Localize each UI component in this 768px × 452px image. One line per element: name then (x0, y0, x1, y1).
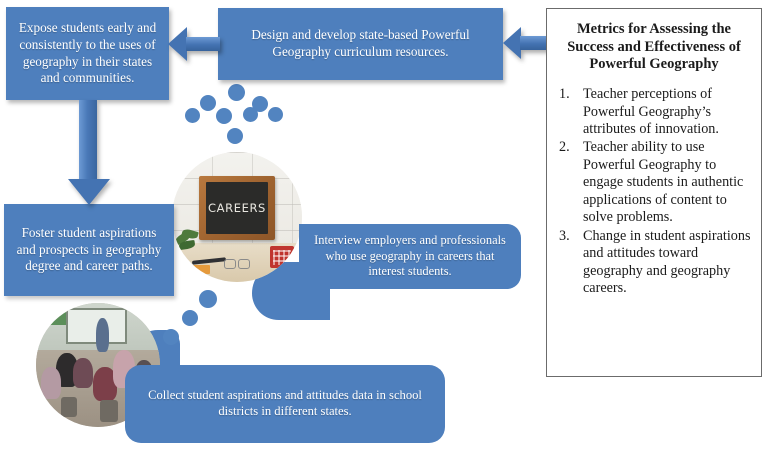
arrow-left-icon-curriculum-to-expose (168, 27, 220, 61)
arrow-left-icon-metrics-to-curriculum (503, 27, 551, 59)
decor-dot (200, 95, 216, 111)
classroom-student (41, 367, 61, 399)
metrics-item-text: Teacher ability to use Powerful Geograph… (583, 139, 743, 225)
decor-dot (199, 290, 217, 308)
metrics-item-number: 1. (559, 86, 579, 103)
arrow-down-icon-expose-to-foster (68, 100, 110, 206)
calculator-icon (270, 246, 294, 268)
decor-dot (243, 107, 258, 122)
photo-careers-chalkboard: CAREERS (172, 152, 302, 282)
glasses-icon (224, 259, 250, 268)
decor-dot (185, 108, 200, 123)
metrics-item-text: Change in student aspirations and attitu… (583, 228, 750, 296)
decor-dot (268, 107, 283, 122)
metrics-item-number: 2. (559, 139, 579, 156)
metrics-item-number: 3. (559, 228, 579, 245)
chalkboard-text: CAREERS (206, 201, 268, 215)
decor-dot (228, 84, 245, 101)
notebook-icon (180, 265, 210, 274)
process-box-interview-employers[interactable]: Interview employers and professionals wh… (299, 224, 521, 289)
metrics-list-item: 3. Change in student aspirations and att… (557, 228, 751, 298)
decor-dot (216, 108, 232, 124)
chalkboard-surface: CAREERS (206, 182, 268, 234)
classroom-student (73, 358, 93, 388)
metrics-item-text: Teacher perceptions of Powerful Geograph… (583, 86, 719, 137)
plant-icon (175, 230, 201, 256)
metrics-list: 1. Teacher perceptions of Powerful Geogr… (557, 86, 751, 298)
metrics-list-item: 1. Teacher perceptions of Powerful Geogr… (557, 86, 751, 138)
diagram-canvas: CAREERS (0, 0, 768, 452)
decor-dot (163, 329, 179, 345)
metrics-panel-title: Metrics for Assessing the Success and Ef… (561, 21, 747, 74)
process-box-design-curriculum[interactable]: Design and develop state-based Powerful … (218, 8, 503, 80)
classroom-chair (100, 400, 118, 422)
chalkboard-frame: CAREERS (199, 176, 275, 240)
classroom-green-panel (36, 303, 68, 325)
classroom-teacher (96, 318, 109, 352)
metrics-panel: Metrics for Assessing the Success and Ef… (546, 8, 762, 377)
process-box-expose-students[interactable]: Expose students early and consistently t… (6, 7, 169, 100)
process-box-foster-aspirations[interactable]: Foster student aspirations and prospects… (4, 204, 174, 296)
process-box-collect-data[interactable]: Collect student aspirations and attitude… (125, 365, 445, 443)
classroom-chair (61, 397, 77, 417)
decor-dot (227, 128, 243, 144)
decor-dot (182, 310, 198, 326)
metrics-list-item: 2. Teacher ability to use Powerful Geogr… (557, 139, 751, 226)
